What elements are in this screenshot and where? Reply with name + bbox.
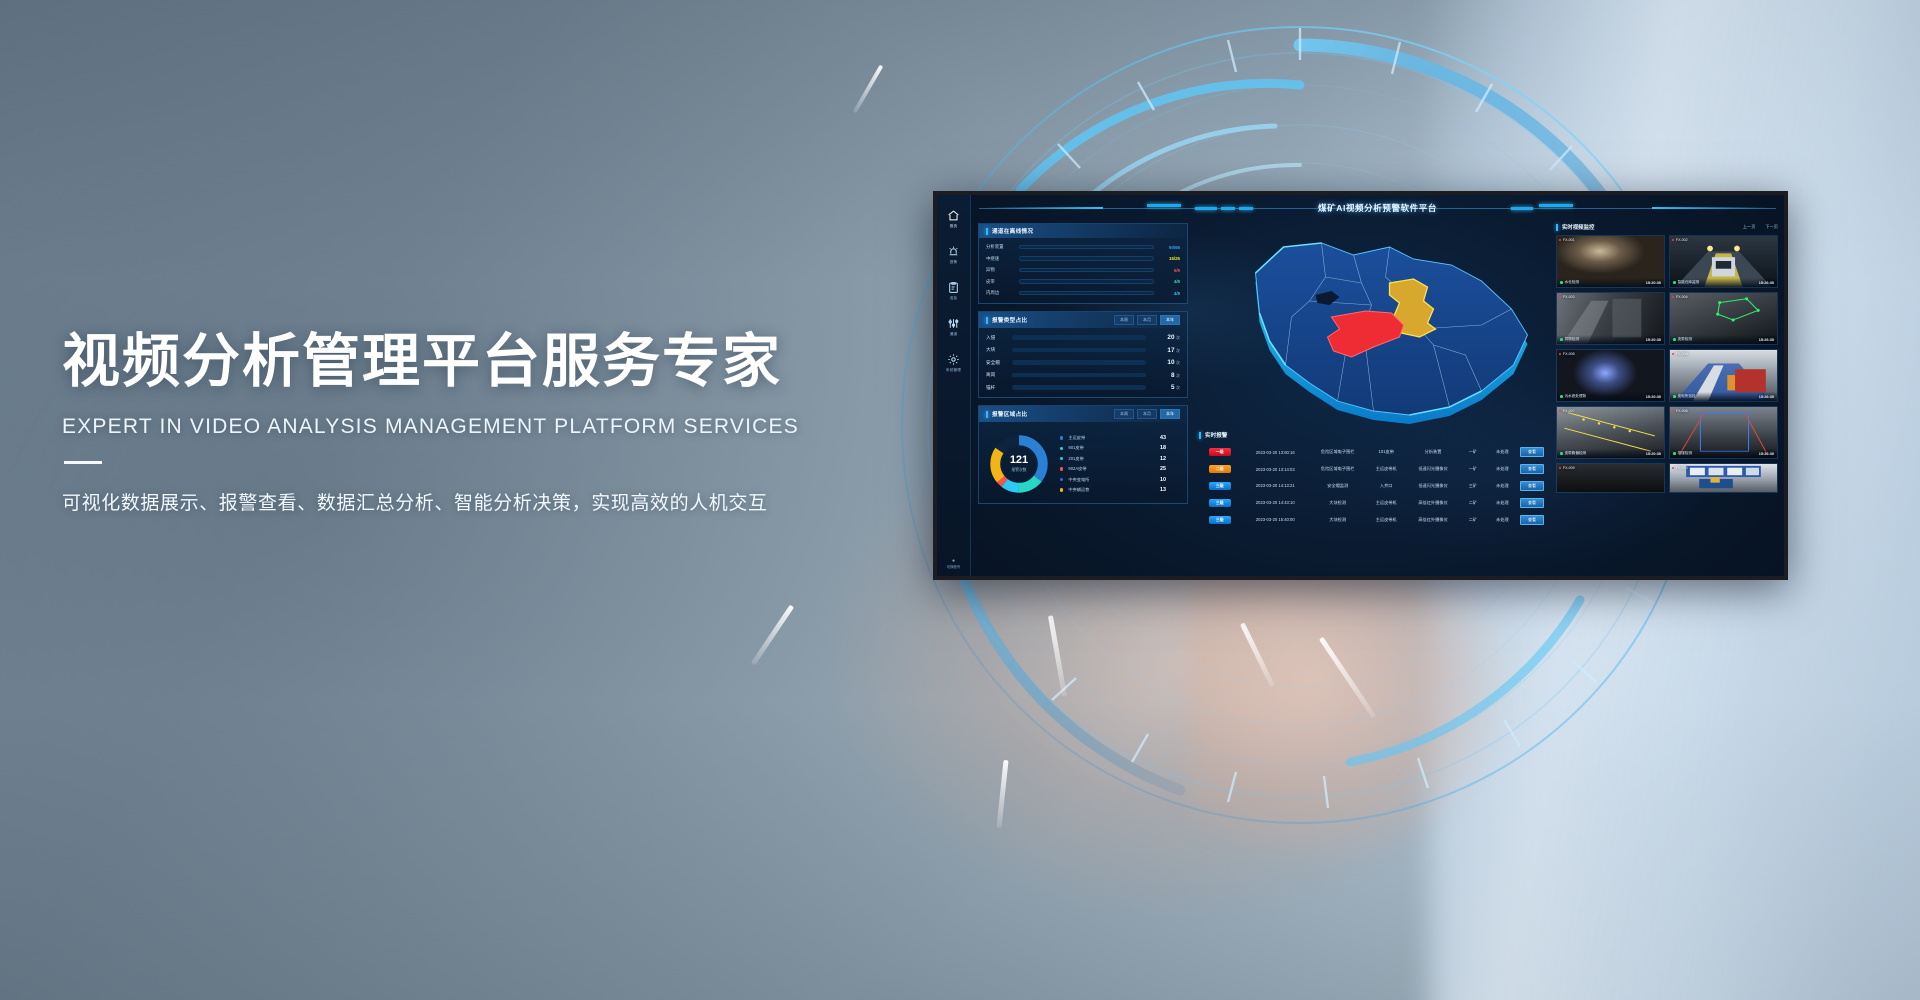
- donut-legend: 主运皮带 43 901皮带 18 201皮带 12: [1052, 435, 1180, 493]
- channel-row: 皮带 4/9: [986, 279, 1180, 285]
- alarm-type-row: 离岗 8次: [986, 372, 1180, 379]
- record-dot-icon: [1559, 239, 1561, 241]
- alarm-area: 101皮带: [1365, 444, 1407, 461]
- alarm-area: 入井口: [1365, 478, 1407, 495]
- legend-value: 43: [1160, 435, 1180, 441]
- right-column: 实时视频监控 上一页 下一页 FX-001 水仓检测 15:20:30: [1552, 219, 1784, 576]
- alarm-area: 主运皮带机: [1365, 494, 1407, 511]
- alarm-type: 大块检测: [1310, 494, 1365, 511]
- video-footer: 异物检测 15:20:30: [1557, 335, 1664, 344]
- alarm-type-value: 10次: [1146, 359, 1180, 366]
- legend-label: 902A皮带: [1068, 466, 1160, 472]
- online-dot-icon: [1673, 281, 1676, 284]
- sidebar-footer-label: 切换账号: [947, 564, 961, 569]
- video-label: 皮带检测: [1673, 337, 1692, 342]
- sidebar-item-inspection[interactable]: 巡检: [947, 281, 960, 301]
- alarm-type-label: 离岗: [986, 372, 1012, 378]
- channel-track: [1019, 245, 1154, 250]
- legend-dot: [1060, 467, 1063, 470]
- camera-id: FX-008: [1672, 409, 1688, 413]
- video-cell[interactable]: FX-004 皮带检测 15:26:30: [1669, 292, 1778, 345]
- camera-id: FX-003: [1559, 295, 1575, 299]
- video-grid: FX-001 水仓检测 15:20:30: [1556, 235, 1778, 493]
- legend-label: 中央辅运巷: [1068, 487, 1160, 493]
- alarm-type-unit: 次: [1176, 335, 1180, 340]
- alarm-type-label: 安全帽: [986, 360, 1012, 366]
- view-button[interactable]: 查看: [1520, 498, 1544, 508]
- online-dot-icon: [1560, 395, 1563, 398]
- alarm-type-row: 大块 17次: [986, 347, 1180, 354]
- camera-id: FX-009: [1559, 466, 1575, 470]
- channel-row: 内周边 4/9: [986, 290, 1180, 296]
- alarm-mine: 二矿: [1459, 494, 1487, 511]
- alarm-type-unit: 次: [1176, 373, 1180, 378]
- alarm-area: 主运皮带机: [1365, 511, 1407, 528]
- panel-title: 报警区域占比: [986, 410, 1027, 418]
- channel-track: [1019, 268, 1154, 273]
- record-dot-icon: [1672, 410, 1674, 412]
- video-footer: 皮带跑偏检测 15:20:30: [1557, 449, 1664, 458]
- alarm-type-track: [1012, 360, 1146, 364]
- channel-value: 50/65: [1154, 245, 1180, 250]
- alarm-type-track: [1012, 348, 1146, 352]
- video-timestamp: 15:26:30: [1759, 338, 1774, 342]
- alarm-device: 高倍红外摄像仪: [1407, 494, 1459, 511]
- panel-title: 实时报警: [1199, 431, 1227, 439]
- alarm-type-row: 安全帽 10次: [986, 359, 1180, 366]
- channel-value: 4/9: [1154, 279, 1180, 284]
- alarm-type-label: 大块: [986, 347, 1012, 353]
- camera-id: FX-010: [1672, 466, 1688, 470]
- alarm-device: 分析装置: [1407, 444, 1459, 461]
- channel-row: 中继速 16/25: [986, 256, 1180, 262]
- view-button[interactable]: 查看: [1520, 515, 1544, 525]
- channel-label: 分析装置: [986, 244, 1019, 250]
- panel-title: 通道在离线情况: [986, 227, 1033, 235]
- sidebar-item-label: 巡检: [950, 296, 958, 301]
- channel-status-panel: 通道在离线情况 分析装置 50/65 中继速 16/25: [978, 223, 1188, 304]
- alarm-device: 高倍红外摄像仪: [1407, 511, 1459, 528]
- alarm-status: 未处理: [1487, 444, 1518, 461]
- video-footer: 水仓检测 15:20:30: [1557, 278, 1664, 287]
- next-page-button[interactable]: 下一页: [1765, 224, 1778, 230]
- alarm-device: 低速闪光摄像仪: [1407, 461, 1459, 478]
- channel-track: [1019, 279, 1154, 284]
- status-badge: 二级: [1209, 465, 1231, 473]
- dashboard-screen: 首页 报警 巡检 通道: [937, 195, 1784, 576]
- video-pagination: 上一页 下一页: [1743, 224, 1778, 230]
- alarm-time: 2023-03-20 15:40:00: [1241, 511, 1310, 528]
- alarm-type-value: 17次: [1146, 347, 1180, 354]
- alarm-table-body: 一级 2023-03-20 13:60:16 危险区域电子围栏 101皮带 分析…: [1199, 444, 1546, 528]
- channel-value: 4/9: [1154, 291, 1180, 296]
- alarm-device: 低速闪光摄像仪: [1407, 478, 1459, 495]
- video-label: 异物检测: [1560, 337, 1579, 342]
- video-footer: 智能仓库监测 15:26:30: [1670, 278, 1777, 287]
- legend-item: 902A皮带 25: [1060, 466, 1180, 472]
- video-cell[interactable]: FX-008 堆煤检测 15:26:30: [1669, 406, 1778, 459]
- camera-id: FX-006: [1672, 352, 1688, 356]
- channel-track: [1019, 291, 1154, 296]
- legend-dot: [1060, 447, 1063, 450]
- channel-row: 分析装置 50/65: [986, 244, 1180, 250]
- channel-value: 16/25: [1154, 256, 1180, 261]
- alarm-time: 2023-03-20 13:60:16: [1241, 444, 1310, 461]
- home-icon: [947, 209, 960, 222]
- record-dot-icon: [1559, 353, 1561, 355]
- video-label: 污水底处理背: [1560, 394, 1586, 399]
- hero-description: 可视化数据展示、报警查看、数据汇总分析、智能分析决策，实现高效的人机交互: [62, 488, 962, 515]
- alarm-mine: 二矿: [1459, 511, 1487, 528]
- alarm-type-track: [1012, 385, 1146, 389]
- video-timestamp: 15:26:30: [1759, 281, 1774, 285]
- alarm-type-row: 锚杆 5次: [986, 384, 1180, 391]
- video-cell[interactable]: FX-009: [1556, 463, 1665, 493]
- video-panel-header: 实时视频监控 上一页 下一页: [1556, 223, 1778, 231]
- page-title: 煤矿AI视频分析预警软件平台: [971, 202, 1784, 214]
- legend-dot: [1060, 488, 1063, 491]
- legend-item: 901皮带 18: [1060, 445, 1180, 451]
- camera-id: FX-005: [1559, 352, 1575, 356]
- donut-center: 121 报警次数: [986, 431, 1052, 497]
- legend-label: 901皮带: [1068, 445, 1160, 451]
- camera-id: FX-004: [1672, 295, 1688, 299]
- view-button[interactable]: 查看: [1520, 464, 1544, 474]
- camera-id: FX-001: [1559, 238, 1575, 242]
- alarm-area-panel: 报警区域占比 本周 本月 本年: [978, 405, 1188, 504]
- legend-label: 201皮带: [1068, 456, 1160, 462]
- channel-rows: 分析装置 50/65 中继速 16/25 异物 5/9: [986, 244, 1180, 296]
- video-label: 堆煤检测: [1673, 451, 1692, 456]
- sidebar-account-switch[interactable]: ● 切换账号: [947, 558, 961, 569]
- alarm-time: 2023-03-20 13:14:03: [1241, 461, 1310, 478]
- online-dot-icon: [1673, 395, 1676, 398]
- dashboard-content: 通道在离线情况 分析装置 50/65 中继速 16/25: [971, 219, 1784, 576]
- tab-month[interactable]: 本月: [1137, 315, 1157, 325]
- table-row[interactable]: 一级 2023-03-20 13:60:16 危险区域电子围栏 101皮带 分析…: [1199, 444, 1546, 461]
- hero-subtitle: EXPERT IN VIDEO ANALYSIS MANAGEMENT PLAT…: [62, 415, 962, 439]
- video-timestamp: 15:20:30: [1646, 452, 1661, 456]
- alarm-type: 危险区域电子围栏: [1310, 461, 1365, 478]
- status-badge: 三级: [1209, 516, 1231, 524]
- alarm-type: 危险区域电子围栏: [1310, 444, 1365, 461]
- record-dot-icon: [1672, 353, 1674, 355]
- video-label: 水仓检测: [1560, 280, 1579, 285]
- tab-week[interactable]: 本周: [1114, 315, 1134, 325]
- legend-dot: [1060, 478, 1063, 481]
- sidebar-item-home[interactable]: 首页: [947, 209, 960, 229]
- record-dot-icon: [1559, 467, 1561, 469]
- panel-header: 报警类型占比 本周 本月 本年: [979, 312, 1187, 328]
- record-dot-icon: [1672, 239, 1674, 241]
- video-cell[interactable]: FX-007 皮带跑偏检测 15:20:30: [1556, 406, 1665, 459]
- channel-row: 异物 5/9: [986, 267, 1180, 273]
- video-footer: 皮带检测 15:26:30: [1670, 335, 1777, 344]
- video-timestamp: 15:20:30: [1646, 395, 1661, 399]
- alarm-time: 2023-03-20 14:13:21: [1241, 478, 1310, 495]
- alarm-type: 安全帽监测: [1310, 478, 1365, 495]
- donut-chart: 121 报警次数: [986, 431, 1052, 497]
- video-cell[interactable]: FX-006 皮电所巡检 15:26:30: [1669, 349, 1778, 402]
- alarm-mine: 三矿: [1459, 478, 1487, 495]
- alarm-type-value: 8次: [1146, 372, 1180, 379]
- channel-label: 异物: [986, 267, 1019, 273]
- alarm-time: 2023-03-20 14:43:10: [1241, 494, 1310, 511]
- alarm-mine: 一矿: [1459, 461, 1487, 478]
- online-dot-icon: [1560, 452, 1563, 455]
- video-cell[interactable]: FX-001 水仓检测 15:20:30: [1556, 235, 1665, 288]
- alarm-status: 未处理: [1487, 461, 1518, 478]
- video-timestamp: 15:20:30: [1646, 281, 1661, 285]
- video-cell[interactable]: FX-003 异物检测 15:20:30: [1556, 292, 1665, 345]
- left-column: 通道在离线情况 分析装置 50/65 中继速 16/25: [971, 219, 1193, 576]
- channel-track: [1019, 256, 1154, 261]
- realtime-alarm-table: 一级 2023-03-20 13:60:16 危险区域电子围栏 101皮带 分析…: [1199, 444, 1546, 528]
- alarm-type-unit: 次: [1176, 385, 1180, 390]
- dashboard-header: 煤矿AI视频分析预警软件平台: [971, 195, 1784, 223]
- camera-id: FX-002: [1672, 238, 1688, 242]
- alarm-type-track: [1012, 335, 1146, 339]
- sidebar-item-alarm[interactable]: 报警: [947, 245, 960, 265]
- channel-label: 中继速: [986, 256, 1019, 262]
- video-timestamp: 15:26:30: [1759, 395, 1774, 399]
- legend-value: 10: [1160, 477, 1180, 483]
- alarm-type-value: 5次: [1146, 384, 1180, 391]
- donut-total-caption: 报警次数: [1011, 468, 1026, 473]
- video-footer: 堆煤检测 15:26:30: [1670, 449, 1777, 458]
- hero-divider: [64, 461, 102, 464]
- video-footer: 污水底处理背 15:20:30: [1557, 392, 1664, 401]
- dashboard-monitor: 首页 报警 巡检 通道: [933, 191, 1788, 580]
- record-dot-icon: [1559, 296, 1561, 298]
- view-button[interactable]: 查看: [1520, 481, 1544, 491]
- center-column: 实时报警 一级 2023-03-20 13:60:16 危险区域电子围栏 101…: [1193, 219, 1552, 576]
- record-dot-icon: [1559, 410, 1561, 412]
- donut-total-value: 121: [1010, 455, 1028, 466]
- legend-item: 中央变电所 10: [1060, 477, 1180, 483]
- video-cell[interactable]: FX-010: [1669, 463, 1778, 493]
- realtime-alarm-panel: 实时报警 一级 2023-03-20 13:60:16 危险区域电子围栏 101…: [1199, 431, 1546, 572]
- panel-header: 报警区域占比 本周 本月 本年: [979, 406, 1187, 422]
- legend-item: 主运皮带 43: [1060, 435, 1180, 441]
- video-timestamp: 15:26:30: [1759, 452, 1774, 456]
- sliders-icon: [947, 317, 960, 330]
- tab-year[interactable]: 本年: [1160, 315, 1180, 325]
- alarm-icon: [947, 245, 960, 258]
- legend-label: 中央变电所: [1068, 477, 1160, 483]
- status-badge: 三级: [1209, 482, 1231, 490]
- legend-value: 13: [1160, 487, 1180, 493]
- alarm-type-unit: 次: [1176, 348, 1180, 353]
- sidebar-item-label: 首页: [950, 224, 958, 229]
- legend-item: 中央辅运巷 13: [1060, 487, 1180, 493]
- alarm-type-tabs: 本周 本月 本年: [1114, 315, 1180, 325]
- alarm-type-label: 入侵: [986, 335, 1012, 341]
- clipboard-icon: [947, 281, 960, 294]
- hand-silhouette: [1190, 560, 1610, 1000]
- alarm-type-unit: 次: [1176, 360, 1180, 365]
- channel-value: 5/9: [1154, 268, 1180, 273]
- channel-label: 内周边: [986, 290, 1019, 296]
- video-cell[interactable]: FX-002 智能仓库监测 15:26:30: [1669, 235, 1778, 288]
- video-label: 皮带跑偏检测: [1560, 451, 1586, 456]
- legend-label: 主运皮带: [1068, 435, 1160, 441]
- panel-header: 通道在离线情况: [979, 224, 1187, 238]
- video-cell[interactable]: FX-005 污水底处理背 15:20:30: [1556, 349, 1665, 402]
- record-dot-icon: [1672, 467, 1674, 469]
- legend-value: 25: [1160, 466, 1180, 472]
- legend-value: 12: [1160, 456, 1180, 462]
- video-label: 皮电所巡检: [1673, 394, 1696, 399]
- alarm-type-value: 20次: [1146, 334, 1180, 341]
- alarm-type-rows: 入侵 20次 大块 17次 安全帽 10次: [986, 334, 1180, 391]
- tab-month[interactable]: 本月: [1137, 409, 1157, 419]
- prev-page-button[interactable]: 上一页: [1743, 224, 1756, 230]
- alarm-mine: 一矿: [1459, 444, 1487, 461]
- online-dot-icon: [1560, 281, 1563, 284]
- video-footer: 皮电所巡检 15:26:30: [1670, 392, 1777, 401]
- province-map-area: [1193, 219, 1552, 437]
- status-badge: 三级: [1209, 499, 1231, 507]
- alarm-area-tabs: 本周 本月 本年: [1114, 409, 1180, 419]
- legend-dot: [1060, 436, 1063, 439]
- sidebar-item-label: 报警: [950, 260, 958, 265]
- alarm-status: 未处理: [1487, 478, 1518, 495]
- alarm-type: 大块检测: [1310, 511, 1365, 528]
- realtime-alarm-header: 实时报警: [1199, 431, 1546, 439]
- alarm-type-row: 入侵 20次: [986, 334, 1180, 341]
- donut-chart-wrapper: 121 报警次数 主运皮带 43: [986, 428, 1180, 497]
- alarm-type-panel: 报警类型占比 本周 本月 本年 入侵 20次: [978, 311, 1188, 398]
- panel-title: 报警类型占比: [986, 316, 1027, 324]
- view-button[interactable]: 查看: [1520, 447, 1544, 457]
- alarm-status: 未处理: [1487, 494, 1518, 511]
- alarm-type-track: [1012, 373, 1146, 377]
- table-row[interactable]: 三级 2023-03-20 14:43:10 大块检测 主运皮带机 高倍红外摄像…: [1199, 494, 1546, 511]
- online-dot-icon: [1673, 452, 1676, 455]
- tab-week[interactable]: 本周: [1114, 409, 1134, 419]
- legend-item: 201皮带 12: [1060, 456, 1180, 462]
- hero-text-block: 视频分析管理平台服务专家 EXPERT IN VIDEO ANALYSIS MA…: [62, 330, 962, 515]
- tab-year[interactable]: 本年: [1160, 409, 1180, 419]
- status-badge: 一级: [1209, 448, 1231, 456]
- hero-title: 视频分析管理平台服务专家: [62, 330, 962, 395]
- online-dot-icon: [1673, 338, 1676, 341]
- alarm-status: 未处理: [1487, 511, 1518, 528]
- alarm-type-label: 锚杆: [986, 385, 1012, 391]
- province-map[interactable]: [1199, 225, 1558, 430]
- legend-value: 18: [1160, 445, 1180, 451]
- channel-label: 皮带: [986, 279, 1019, 285]
- panel-title: 实时视频监控: [1556, 223, 1594, 231]
- legend-dot: [1060, 457, 1063, 460]
- record-dot-icon: [1672, 296, 1674, 298]
- alarm-area: 主运皮带机: [1365, 461, 1407, 478]
- video-timestamp: 15:20:30: [1646, 338, 1661, 342]
- online-dot-icon: [1560, 338, 1563, 341]
- table-row[interactable]: 二级 2023-03-20 13:14:03 危险区域电子围栏 主运皮带机 低速…: [1199, 461, 1546, 478]
- camera-id: FX-007: [1559, 409, 1575, 413]
- video-label: 智能仓库监测: [1673, 280, 1699, 285]
- table-row[interactable]: 三级 2023-03-20 14:13:21 安全帽监测 入井口 低速闪光摄像仪…: [1199, 478, 1546, 495]
- table-row[interactable]: 三级 2023-03-20 15:40:00 大块检测 主运皮带机 高倍红外摄像…: [1199, 511, 1546, 528]
